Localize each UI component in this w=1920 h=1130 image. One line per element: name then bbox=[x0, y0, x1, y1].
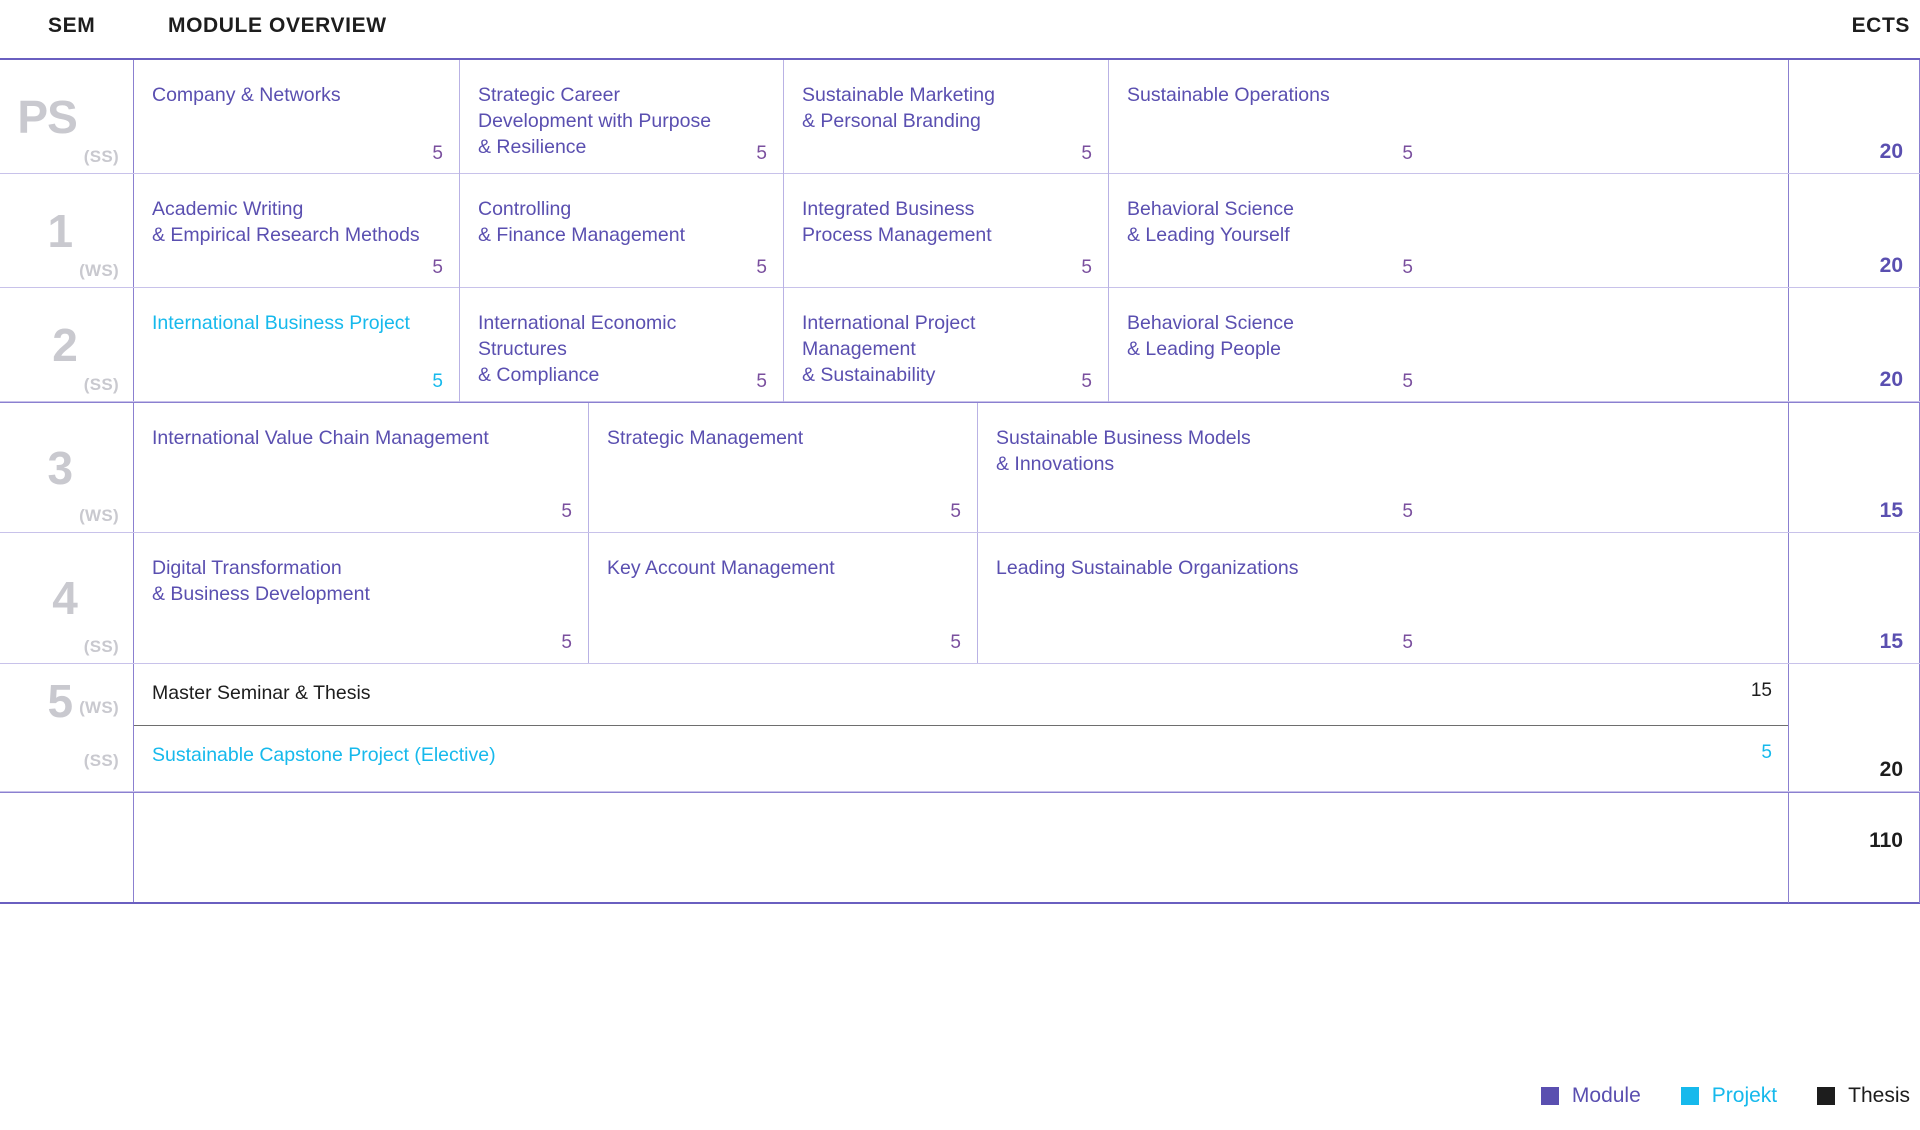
module-cell[interactable]: International Economic Structures & Comp… bbox=[460, 288, 784, 402]
legend-label: Projekt bbox=[1712, 1084, 1777, 1108]
semester-ects-total-cell: 15 bbox=[1788, 403, 1920, 532]
module-cell[interactable]: International Value Chain Management5 bbox=[134, 403, 589, 532]
module-title: Strategic Career Development with Purpos… bbox=[478, 82, 765, 160]
module-title: Strategic Management bbox=[607, 425, 959, 451]
semester-season-ss: (SS) bbox=[84, 751, 119, 771]
thesis-ects: 15 bbox=[1751, 680, 1772, 702]
legend: ModuleProjektThesis bbox=[1541, 1084, 1910, 1108]
elective-ects: 5 bbox=[1761, 742, 1772, 764]
module-title: International Project Management & Susta… bbox=[802, 310, 1090, 388]
module-title: International Business Project bbox=[152, 310, 441, 336]
total-row-band bbox=[133, 793, 1788, 902]
module-ects: 5 bbox=[1402, 632, 1413, 654]
module-title: Key Account Management bbox=[607, 555, 959, 581]
semester-season-ws: (WS) bbox=[79, 698, 119, 724]
module-ects: 5 bbox=[1402, 257, 1413, 279]
module-title: Sustainable Marketing & Personal Brandin… bbox=[802, 82, 1090, 134]
semester-ects-total-cell: 20 bbox=[1788, 664, 1920, 791]
module-title: Academic Writing & Empirical Research Me… bbox=[152, 196, 441, 248]
semester-ects-total-cell: 20 bbox=[1788, 174, 1920, 287]
module-ects: 5 bbox=[1081, 257, 1092, 279]
module-cell[interactable]: Digital Transformation & Business Develo… bbox=[134, 533, 589, 663]
semester-ects-total: 15 bbox=[1880, 630, 1903, 654]
module-cell[interactable]: Strategic Career Development with Purpos… bbox=[460, 60, 784, 174]
module-band: Digital Transformation & Business Develo… bbox=[133, 533, 1788, 663]
module-ects: 5 bbox=[432, 371, 443, 393]
page-title: MODULE OVERVIEW bbox=[168, 14, 387, 38]
semester-season: (SS) bbox=[84, 375, 119, 401]
module-cell[interactable]: Company & Networks5 bbox=[134, 60, 460, 174]
module-cell[interactable]: International Project Management & Susta… bbox=[784, 288, 1109, 402]
module-ects: 5 bbox=[432, 143, 443, 165]
legend-swatch-icon bbox=[1681, 1087, 1699, 1105]
semester-label-cell: 4(SS) bbox=[0, 533, 133, 663]
module-cell[interactable]: International Business Project5 bbox=[134, 288, 460, 402]
semester-label-cell: 5(WS)(SS) bbox=[0, 664, 133, 791]
module-title: Controlling & Finance Management bbox=[478, 196, 765, 248]
module-ects: 5 bbox=[432, 257, 443, 279]
module-title: International Value Chain Management bbox=[152, 425, 570, 451]
module-cell[interactable]: Leading Sustainable Organizations5 bbox=[978, 533, 1429, 663]
header-sem-label: SEM bbox=[48, 14, 95, 38]
elective-title: Sustainable Capstone Project (Elective) bbox=[152, 744, 496, 766]
legend-item: Thesis bbox=[1817, 1084, 1910, 1108]
grand-total-cell: 110 bbox=[1788, 793, 1920, 903]
module-ects: 5 bbox=[1081, 143, 1092, 165]
elective-title-row[interactable]: Sustainable Capstone Project (Elective)5 bbox=[134, 726, 1788, 788]
module-title: Leading Sustainable Organizations bbox=[996, 555, 1411, 581]
module-ects: 5 bbox=[561, 501, 572, 523]
semester-row: 1(WS)Academic Writing & Empirical Resear… bbox=[0, 174, 1920, 288]
semester-season: (SS) bbox=[84, 147, 119, 173]
semester-row: 3(WS)International Value Chain Managemen… bbox=[0, 402, 1920, 533]
module-band: International Value Chain Management5Str… bbox=[133, 403, 1788, 532]
semester-label-cell: PS(SS) bbox=[0, 60, 133, 173]
legend-swatch-icon bbox=[1817, 1087, 1835, 1105]
legend-item: Module bbox=[1541, 1084, 1641, 1108]
semester-row: 4(SS)Digital Transformation & Business D… bbox=[0, 533, 1920, 664]
module-ects: 5 bbox=[756, 143, 767, 165]
semester-ects-total-cell: 15 bbox=[1788, 533, 1920, 663]
module-ects: 5 bbox=[1402, 371, 1413, 393]
module-cell[interactable]: Behavioral Science & Leading People5 bbox=[1109, 288, 1429, 402]
grand-total-value: 110 bbox=[1869, 829, 1903, 853]
legend-label: Module bbox=[1572, 1084, 1641, 1108]
module-ects: 5 bbox=[1081, 371, 1092, 393]
semester-ects-total: 20 bbox=[1880, 254, 1903, 278]
legend-item: Projekt bbox=[1681, 1084, 1777, 1108]
module-cell[interactable]: Sustainable Business Models & Innovation… bbox=[978, 403, 1429, 532]
total-row-spacer bbox=[0, 793, 133, 902]
semester-label-cell: 3(WS) bbox=[0, 403, 133, 532]
module-cell[interactable]: Academic Writing & Empirical Research Me… bbox=[134, 174, 460, 288]
module-ects: 5 bbox=[1402, 143, 1413, 165]
module-ects: 5 bbox=[950, 501, 961, 523]
module-cell[interactable]: Integrated Business Process Management5 bbox=[784, 174, 1109, 288]
semester-number: 4 bbox=[52, 575, 77, 621]
semester-ects-total: 20 bbox=[1880, 758, 1903, 782]
legend-label: Thesis bbox=[1848, 1084, 1910, 1108]
semester-label-cell: 1(WS) bbox=[0, 174, 133, 287]
module-overview-page: SEM MODULE OVERVIEW ECTS PS(SS)Company &… bbox=[0, 0, 1920, 1130]
semester-row: PS(SS)Company & Networks5Strategic Caree… bbox=[0, 60, 1920, 174]
table-header: SEM MODULE OVERVIEW ECTS bbox=[0, 0, 1920, 58]
thesis-title-row[interactable]: Master Seminar & Thesis15 bbox=[134, 664, 1788, 726]
semester-number: 2 bbox=[52, 322, 77, 368]
module-cell[interactable]: Key Account Management5 bbox=[589, 533, 978, 663]
semester-number: 1 bbox=[47, 208, 72, 254]
semester-number: 3 bbox=[47, 445, 72, 491]
module-title: Digital Transformation & Business Develo… bbox=[152, 555, 570, 607]
thesis-title: Master Seminar & Thesis bbox=[152, 682, 371, 704]
module-band: International Business Project5Internati… bbox=[133, 288, 1788, 401]
semester-ects-total: 15 bbox=[1880, 499, 1903, 523]
semester-ects-total-cell: 20 bbox=[1788, 60, 1920, 173]
semester-ects-total-cell: 20 bbox=[1788, 288, 1920, 401]
module-cell[interactable]: Controlling & Finance Management5 bbox=[460, 174, 784, 288]
module-cell[interactable]: Behavioral Science & Leading Yourself5 bbox=[1109, 174, 1429, 288]
semester-row: 2(SS)International Business Project5Inte… bbox=[0, 288, 1920, 402]
module-band: Company & Networks5Strategic Career Deve… bbox=[133, 60, 1788, 173]
semester-ects-total: 20 bbox=[1880, 368, 1903, 392]
semester-season: (SS) bbox=[84, 637, 119, 663]
header-ects-label: ECTS bbox=[1852, 14, 1910, 38]
total-row: 110 bbox=[0, 792, 1920, 902]
module-title: Behavioral Science & Leading People bbox=[1127, 310, 1411, 362]
module-title: Sustainable Business Models & Innovation… bbox=[996, 425, 1411, 477]
semester-season: (WS) bbox=[79, 506, 119, 532]
module-ects: 5 bbox=[756, 257, 767, 279]
module-ects: 5 bbox=[950, 632, 961, 654]
semester-label-cell: 2(SS) bbox=[0, 288, 133, 401]
module-band: Academic Writing & Empirical Research Me… bbox=[133, 174, 1788, 287]
module-cell[interactable]: Sustainable Marketing & Personal Brandin… bbox=[784, 60, 1109, 174]
semester-row-5: 5(WS)(SS)Master Seminar & Thesis15Sustai… bbox=[0, 664, 1920, 792]
module-cell[interactable]: Strategic Management5 bbox=[589, 403, 978, 532]
semester5-module-stack: Master Seminar & Thesis15Sustainable Cap… bbox=[133, 664, 1788, 791]
module-title: Sustainable Operations bbox=[1127, 82, 1411, 108]
module-title: Integrated Business Process Management bbox=[802, 196, 1090, 248]
module-title: Behavioral Science & Leading Yourself bbox=[1127, 196, 1411, 248]
semester-ects-total: 20 bbox=[1880, 140, 1903, 164]
curriculum-grid: PS(SS)Company & Networks5Strategic Caree… bbox=[0, 58, 1920, 904]
semester-number: PS bbox=[17, 94, 76, 140]
module-ects: 5 bbox=[561, 632, 572, 654]
module-title: International Economic Structures & Comp… bbox=[478, 310, 765, 388]
legend-swatch-icon bbox=[1541, 1087, 1559, 1105]
module-cell[interactable]: Sustainable Operations5 bbox=[1109, 60, 1429, 174]
module-ects: 5 bbox=[756, 371, 767, 393]
module-ects: 5 bbox=[1402, 501, 1413, 523]
module-title: Company & Networks bbox=[152, 82, 441, 108]
semester-number: 5 bbox=[47, 678, 72, 724]
semester-season: (WS) bbox=[79, 261, 119, 287]
